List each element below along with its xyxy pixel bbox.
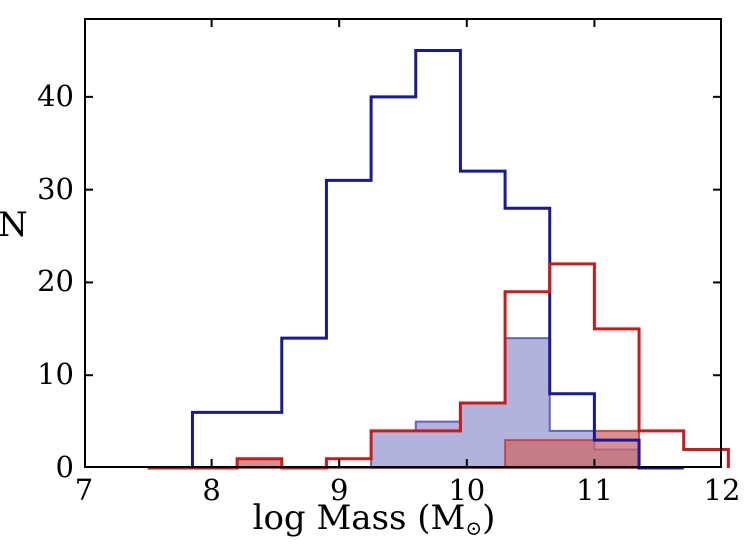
y-tick-label: 0: [6, 453, 74, 482]
x-axis-label: log Mass (M⊙): [0, 498, 748, 540]
y-tick-label: 10: [6, 360, 74, 389]
tick-marks-layer: [84, 18, 722, 468]
y-axis-label: N: [0, 205, 28, 245]
y-tick-label: 40: [6, 82, 74, 111]
y-tick-label: 30: [6, 175, 74, 204]
x-axis-label-suffix: ): [482, 498, 495, 538]
figure-canvas: N 789101112010203040 log Mass (M⊙): [0, 0, 748, 554]
y-tick-label: 20: [6, 267, 74, 296]
x-axis-label-prefix: log Mass (M: [253, 498, 466, 538]
solar-symbol-icon: ⊙: [465, 516, 482, 540]
plot-area: [84, 18, 722, 468]
